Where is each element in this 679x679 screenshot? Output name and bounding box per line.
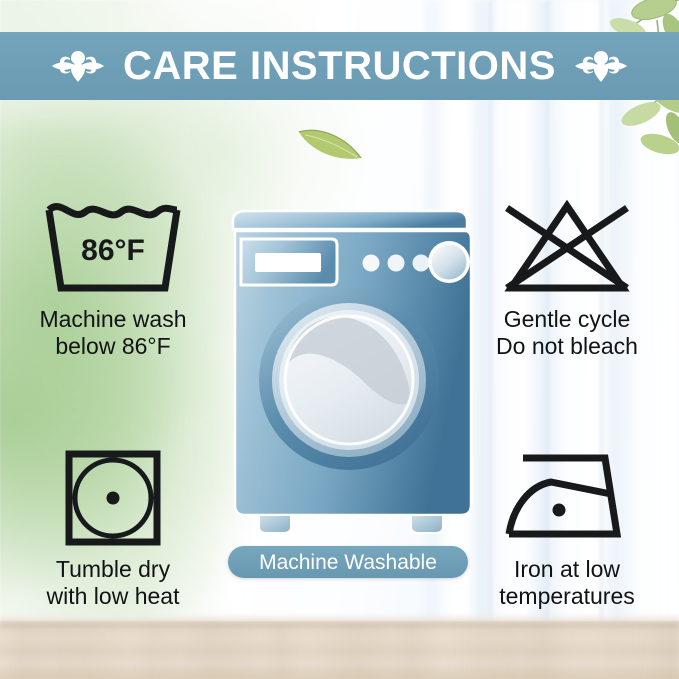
care-symbol-iron: Iron at low temperatures — [462, 446, 672, 610]
machine-foot — [411, 515, 443, 533]
tumble-dry-low-heat-icon — [61, 446, 165, 550]
wash-temperature-text: 86°F — [81, 234, 145, 267]
detergent-drawer-slot — [255, 253, 321, 272]
page-title: CARE INSTRUCTIONS — [123, 46, 556, 86]
header-banner: CARE INSTRUCTIONS — [0, 32, 679, 100]
table-wood-grain — [0, 621, 679, 679]
fleur-de-lis-icon — [572, 46, 630, 86]
control-indicator-dot — [413, 255, 430, 272]
care-symbol-label: Machine wash below 86°F — [39, 306, 186, 360]
triangle-crossed-out-icon — [493, 196, 641, 300]
care-symbol-label: Iron at low temperatures — [499, 556, 635, 610]
care-symbol-label: Tumble dry with low heat — [47, 556, 180, 610]
machine-foot — [259, 515, 291, 533]
care-symbol-machine-wash: 86°F Machine wash below 86°F — [8, 196, 218, 360]
control-indicator-dot — [388, 255, 405, 272]
floating-leaf-icon — [297, 122, 363, 164]
care-instructions-infographic: CARE INSTRUCTIONS 86°F Machine wash belo… — [0, 0, 679, 679]
care-symbol-do-not-bleach: Gentle cycle Do not bleach — [462, 196, 672, 360]
wooden-table-surface — [0, 621, 679, 679]
control-indicator-dot — [363, 255, 380, 272]
tumble-dry-low-heat-icon-wrapper — [61, 446, 165, 550]
care-symbol-tumble-dry: Tumble dry with low heat — [8, 446, 218, 610]
table-front-edge — [0, 614, 679, 623]
washing-machine-illustration — [225, 205, 475, 545]
care-symbol-label: Gentle cycle Do not bleach — [496, 306, 638, 360]
control-dial — [432, 245, 467, 280]
fleur-de-lis-icon — [49, 46, 107, 86]
machine-washable-badge: Machine Washable — [228, 546, 468, 578]
iron-low-temperature-icon — [497, 446, 637, 550]
triangle-crossed-out-icon-wrapper — [493, 196, 641, 300]
wash-tub-icon: 86°F — [39, 196, 187, 300]
badge-label: Machine Washable — [259, 552, 437, 573]
wash-tub-icon-wrapper: 86°F — [39, 196, 187, 300]
machine-top-lid — [233, 211, 467, 229]
iron-low-temperature-icon-wrapper — [497, 446, 637, 550]
